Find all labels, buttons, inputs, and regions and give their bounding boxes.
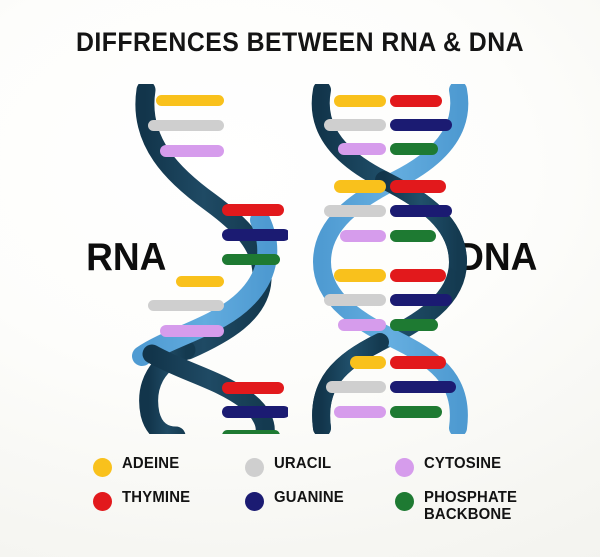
legend-label-adeine: ADEINE: [122, 455, 179, 472]
dna-rung-phosphate-4: [390, 406, 442, 418]
dna-rung-uracil-2: [324, 205, 386, 217]
rna-rung-adeine-1: [156, 95, 224, 106]
dna-rna-infographic: DIFFRENCES BETWEEN RNA & DNA RNA DNA: [0, 0, 600, 557]
dna-rung-thymine-2: [390, 180, 446, 193]
dna-rung-adeine-2: [334, 180, 386, 193]
legend-label-guanine: GUANINE: [274, 489, 344, 506]
thymine-color-dot: [93, 492, 112, 511]
guanine-color-dot: [245, 492, 264, 511]
legend-label-thymine: THYMINE: [122, 489, 190, 506]
legend-label-uracil: URACIL: [274, 455, 331, 472]
dna-rung-cytosine-1: [338, 143, 386, 155]
dna-rung-guanine-3: [390, 294, 452, 306]
rna-rung-group-4: [222, 382, 288, 434]
dna-rung-uracil-3: [324, 294, 386, 306]
dna-rung-group-3: [324, 269, 452, 331]
legend-item-uracil[interactable]: URACIL: [245, 455, 395, 489]
legend-label-cytosine: CYTOSINE: [424, 455, 501, 472]
dna-rung-cytosine-2: [340, 230, 386, 242]
dna-rung-group-1: [324, 95, 452, 155]
legend-item-cytosine[interactable]: CYTOSINE: [395, 455, 524, 489]
rna-rung-guanine-1: [222, 229, 288, 241]
dna-helix-diagram: [308, 84, 473, 434]
dna-rung-phosphate-1: [390, 143, 438, 155]
rna-rung-thymine-1: [222, 204, 284, 216]
dna-rung-thymine-4: [390, 356, 446, 369]
legend-item-thymine[interactable]: THYMINE: [93, 489, 245, 524]
dna-rung-phosphate-3: [390, 319, 438, 331]
rna-rung-cytosine-1: [160, 145, 224, 157]
dna-rung-guanine-1: [390, 119, 452, 131]
rna-rung-cytosine-2: [160, 325, 224, 337]
dna-rung-uracil-4: [326, 381, 386, 393]
page-title: DIFFRENCES BETWEEN RNA & DNA: [24, 27, 576, 58]
legend-label-phosphate-backbone: PHOSPHATE BACKBONE: [424, 489, 517, 524]
rna-helix-diagram: [128, 84, 288, 434]
rna-rung-uracil-2: [148, 300, 224, 311]
legend-item-guanine[interactable]: GUANINE: [245, 489, 395, 524]
dna-rung-thymine-1: [390, 95, 442, 107]
dna-rung-adeine-3: [334, 269, 386, 282]
adeine-color-dot: [93, 458, 112, 477]
legend-item-adeine[interactable]: ADEINE: [93, 455, 245, 489]
dna-rung-cytosine-4: [334, 406, 386, 418]
rna-rung-guanine-2: [222, 406, 288, 418]
rna-rung-adeine-2: [176, 276, 224, 287]
dna-rung-adeine-1: [334, 95, 386, 107]
dna-rung-guanine-2: [390, 205, 452, 217]
legend-item-phosphate-backbone[interactable]: PHOSPHATE BACKBONE: [395, 489, 524, 524]
dna-rung-thymine-3: [390, 269, 446, 282]
phosphate-backbone-color-dot: [395, 492, 414, 511]
rna-rung-uracil-1: [148, 120, 224, 131]
legend: ADEINE URACIL CYTOSINE THYMINE GUANINE P…: [93, 455, 523, 524]
rna-rung-group-2: [222, 204, 288, 265]
dna-rung-cytosine-3: [338, 319, 386, 331]
dna-rung-adeine-4: [350, 356, 386, 369]
cytosine-color-dot: [395, 458, 414, 477]
rna-rung-thymine-2: [222, 382, 284, 394]
dna-rung-uracil-1: [324, 119, 386, 131]
rna-rung-group-3: [148, 276, 224, 337]
uracil-color-dot: [245, 458, 264, 477]
dna-rung-guanine-4: [390, 381, 456, 393]
rna-rung-phosphate-2: [222, 430, 280, 434]
dna-rung-phosphate-2: [390, 230, 436, 242]
rna-rung-phosphate-1: [222, 254, 280, 265]
